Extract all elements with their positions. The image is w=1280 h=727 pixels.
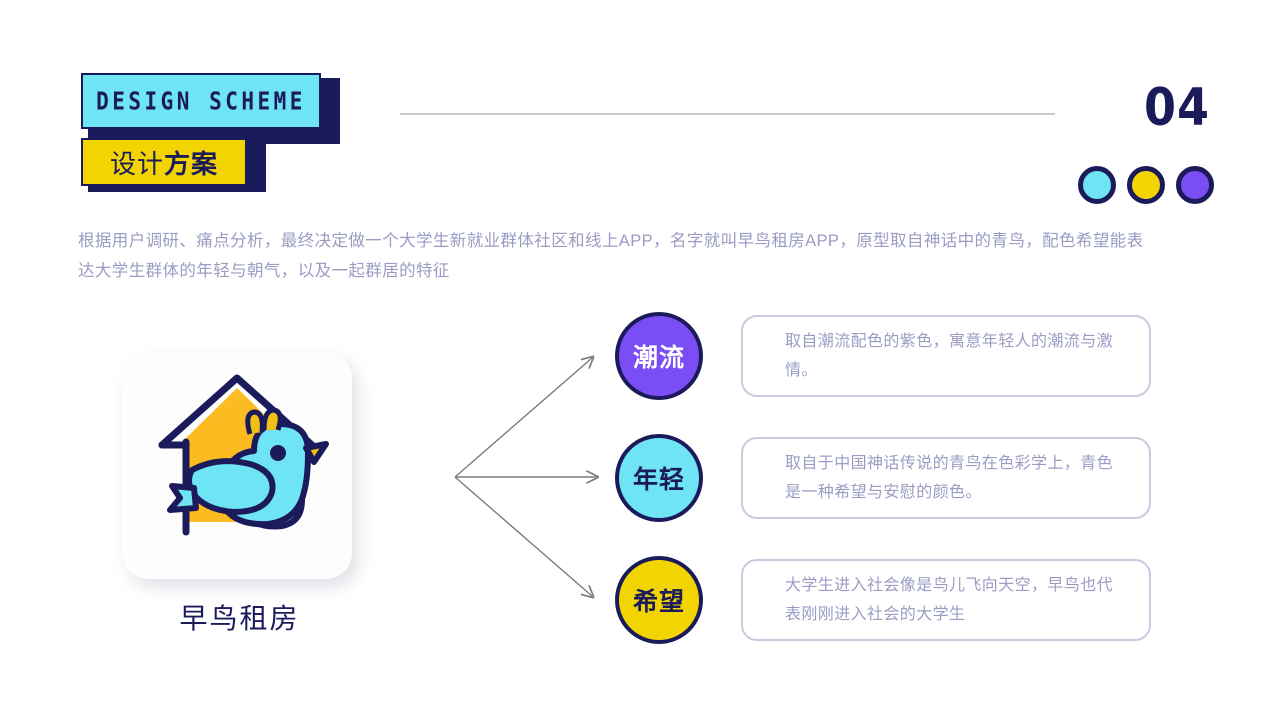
concept-description-text: 取自潮流配色的紫色，寓意年轻人的潮流与激情。 — [785, 327, 1123, 385]
concept-badge-label: 年轻 — [633, 460, 685, 496]
concept-row: 年轻 取自于中国神话传说的青鸟在色彩学上，青色是一种希望与安慰的颜色。 — [615, 434, 1151, 522]
concept-badge-chaoliu[interactable]: 潮流 — [615, 312, 703, 400]
concept-description-text: 大学生进入社会像是鸟儿飞向天空，早鸟也代表刚刚进入社会的大学生 — [785, 571, 1123, 629]
section-title-english: DESIGN SCHEME — [96, 87, 306, 115]
section-title-english-box: DESIGN SCHEME — [81, 73, 321, 129]
arrow-to-concept-0 — [455, 358, 592, 477]
palette-dot-purple — [1176, 166, 1214, 204]
section-title-chinese-box: 设计 方案 — [81, 138, 247, 186]
early-bird-house-icon — [122, 352, 352, 579]
color-palette-dots — [1078, 166, 1214, 204]
section-header-badge: DESIGN SCHEME 设计 方案 — [78, 70, 340, 192]
intro-paragraph: 根据用户调研、痛点分析，最终决定做一个大学生新就业群体社区和线上APP，名字就叫… — [78, 226, 1153, 286]
palette-dot-yellow — [1127, 166, 1165, 204]
concept-badge-label: 潮流 — [633, 338, 685, 374]
concept-badge-label: 希望 — [633, 582, 685, 618]
app-logo-caption: 早鸟租房 — [122, 597, 357, 637]
app-logo-card — [122, 352, 352, 579]
arrow-fan-connector — [450, 340, 610, 615]
concept-description-box: 取自于中国神话传说的青鸟在色彩学上，青色是一种希望与安慰的颜色。 — [741, 437, 1151, 519]
app-logo-block: 早鸟租房 — [122, 352, 357, 642]
header-divider-rule — [400, 113, 1055, 115]
concept-description-text: 取自于中国神话传说的青鸟在色彩学上，青色是一种希望与安慰的颜色。 — [785, 449, 1123, 507]
section-number: 04 — [1144, 77, 1210, 137]
concept-row: 潮流 取自潮流配色的紫色，寓意年轻人的潮流与激情。 — [615, 312, 1151, 400]
palette-dot-cyan — [1078, 166, 1116, 204]
section-title-chinese-thin: 设计 — [110, 144, 164, 181]
concept-badge-xiwang[interactable]: 希望 — [615, 556, 703, 644]
arrow-to-concept-2 — [455, 477, 592, 596]
concept-row: 希望 大学生进入社会像是鸟儿飞向天空，早鸟也代表刚刚进入社会的大学生 — [615, 556, 1151, 644]
concept-badge-nianqing[interactable]: 年轻 — [615, 434, 703, 522]
section-title-chinese-bold: 方案 — [164, 144, 218, 181]
concept-description-box: 大学生进入社会像是鸟儿飞向天空，早鸟也代表刚刚进入社会的大学生 — [741, 559, 1151, 641]
concept-description-box: 取自潮流配色的紫色，寓意年轻人的潮流与激情。 — [741, 315, 1151, 397]
